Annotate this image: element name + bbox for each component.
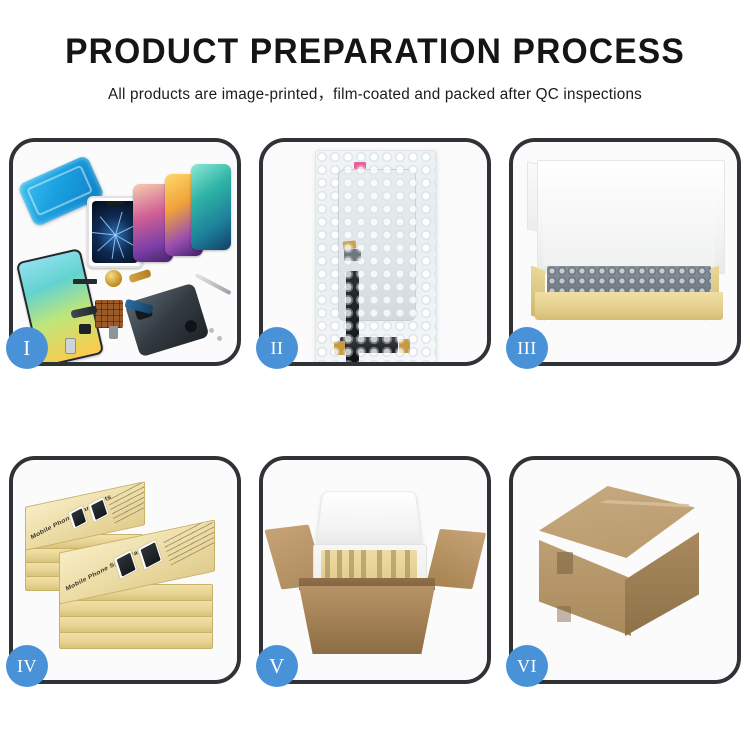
page-subtitle: All products are image-printed，film-coat… <box>6 82 745 104</box>
stacked-boxes-scene: Mobile Phone Spare Parts Mobile Phone Sp… <box>23 480 235 670</box>
driver-ic-icon <box>344 249 361 261</box>
gold-tape-icon <box>343 240 357 249</box>
step-image-5 <box>263 460 487 680</box>
cracked-screen-graphic <box>92 201 138 263</box>
styrofoam-lid-icon <box>315 492 422 549</box>
phone-back-housing-icon <box>124 283 209 358</box>
step-card-4[interactable]: Mobile Phone Spare Parts Mobile Phone Sp… <box>9 456 241 684</box>
gold-tray-front-icon <box>535 292 723 320</box>
step-image-3 <box>513 142 737 362</box>
open-tray-box-scene <box>513 142 737 362</box>
sim-tray-part-icon <box>65 338 76 354</box>
carton-body-icon <box>299 586 435 654</box>
step-badge-2: II <box>256 327 298 369</box>
carton-top-face-icon <box>539 486 695 558</box>
tweezers-tool-icon <box>194 273 231 295</box>
step-image-1 <box>13 142 237 362</box>
flex-cable-gold-icon <box>128 269 151 283</box>
bubble-wrapped-lcd-scene <box>263 142 487 362</box>
step-image-6 <box>513 460 737 680</box>
white-foam-sheet-icon <box>543 194 715 266</box>
carton-tab-icon <box>557 552 573 574</box>
step-card-2[interactable]: II <box>259 138 491 366</box>
step-card-5[interactable]: V <box>259 456 491 684</box>
carton-tab-icon <box>557 606 571 622</box>
page-title: PRODUCT PREPARATION PROCESS <box>15 34 735 71</box>
phone-notch-icon <box>106 201 124 205</box>
gold-tape-icon <box>399 339 410 353</box>
lcd-connector-icon <box>340 337 398 353</box>
pink-tape-icon <box>354 162 366 169</box>
bubble-wrap-bag-icon <box>315 150 437 362</box>
carton-with-foam-scene <box>263 460 487 680</box>
step-badge-6: VI <box>506 645 548 687</box>
step-card-3[interactable]: III <box>509 138 741 366</box>
gold-tape-icon <box>334 341 345 355</box>
vibration-motor-part-icon <box>105 270 122 287</box>
page-header: PRODUCT PREPARATION PROCESS All products… <box>0 0 750 104</box>
sealed-carton-scene <box>513 460 737 680</box>
screw-part-icon <box>209 328 214 333</box>
step-badge-5: V <box>256 645 298 687</box>
step-card-6[interactable]: VI <box>509 456 741 684</box>
step-card-1[interactable]: I <box>9 138 241 366</box>
step-image-2 <box>263 142 487 362</box>
step-badge-1: I <box>6 327 48 369</box>
step-badge-4: IV <box>6 645 48 687</box>
speaker-bar-part-icon <box>73 279 97 284</box>
connector-part-icon <box>109 326 118 339</box>
phone-parts-scene <box>13 142 237 362</box>
camera-module-part-icon <box>79 324 91 334</box>
step-image-4: Mobile Phone Spare Parts Mobile Phone Sp… <box>13 460 237 680</box>
chip-grid-part-icon <box>95 300 123 328</box>
process-steps-grid: I II <box>9 138 741 684</box>
phone-screen-teal-icon <box>191 164 231 250</box>
screw-part-icon <box>217 336 222 341</box>
step-badge-3: III <box>506 327 548 369</box>
